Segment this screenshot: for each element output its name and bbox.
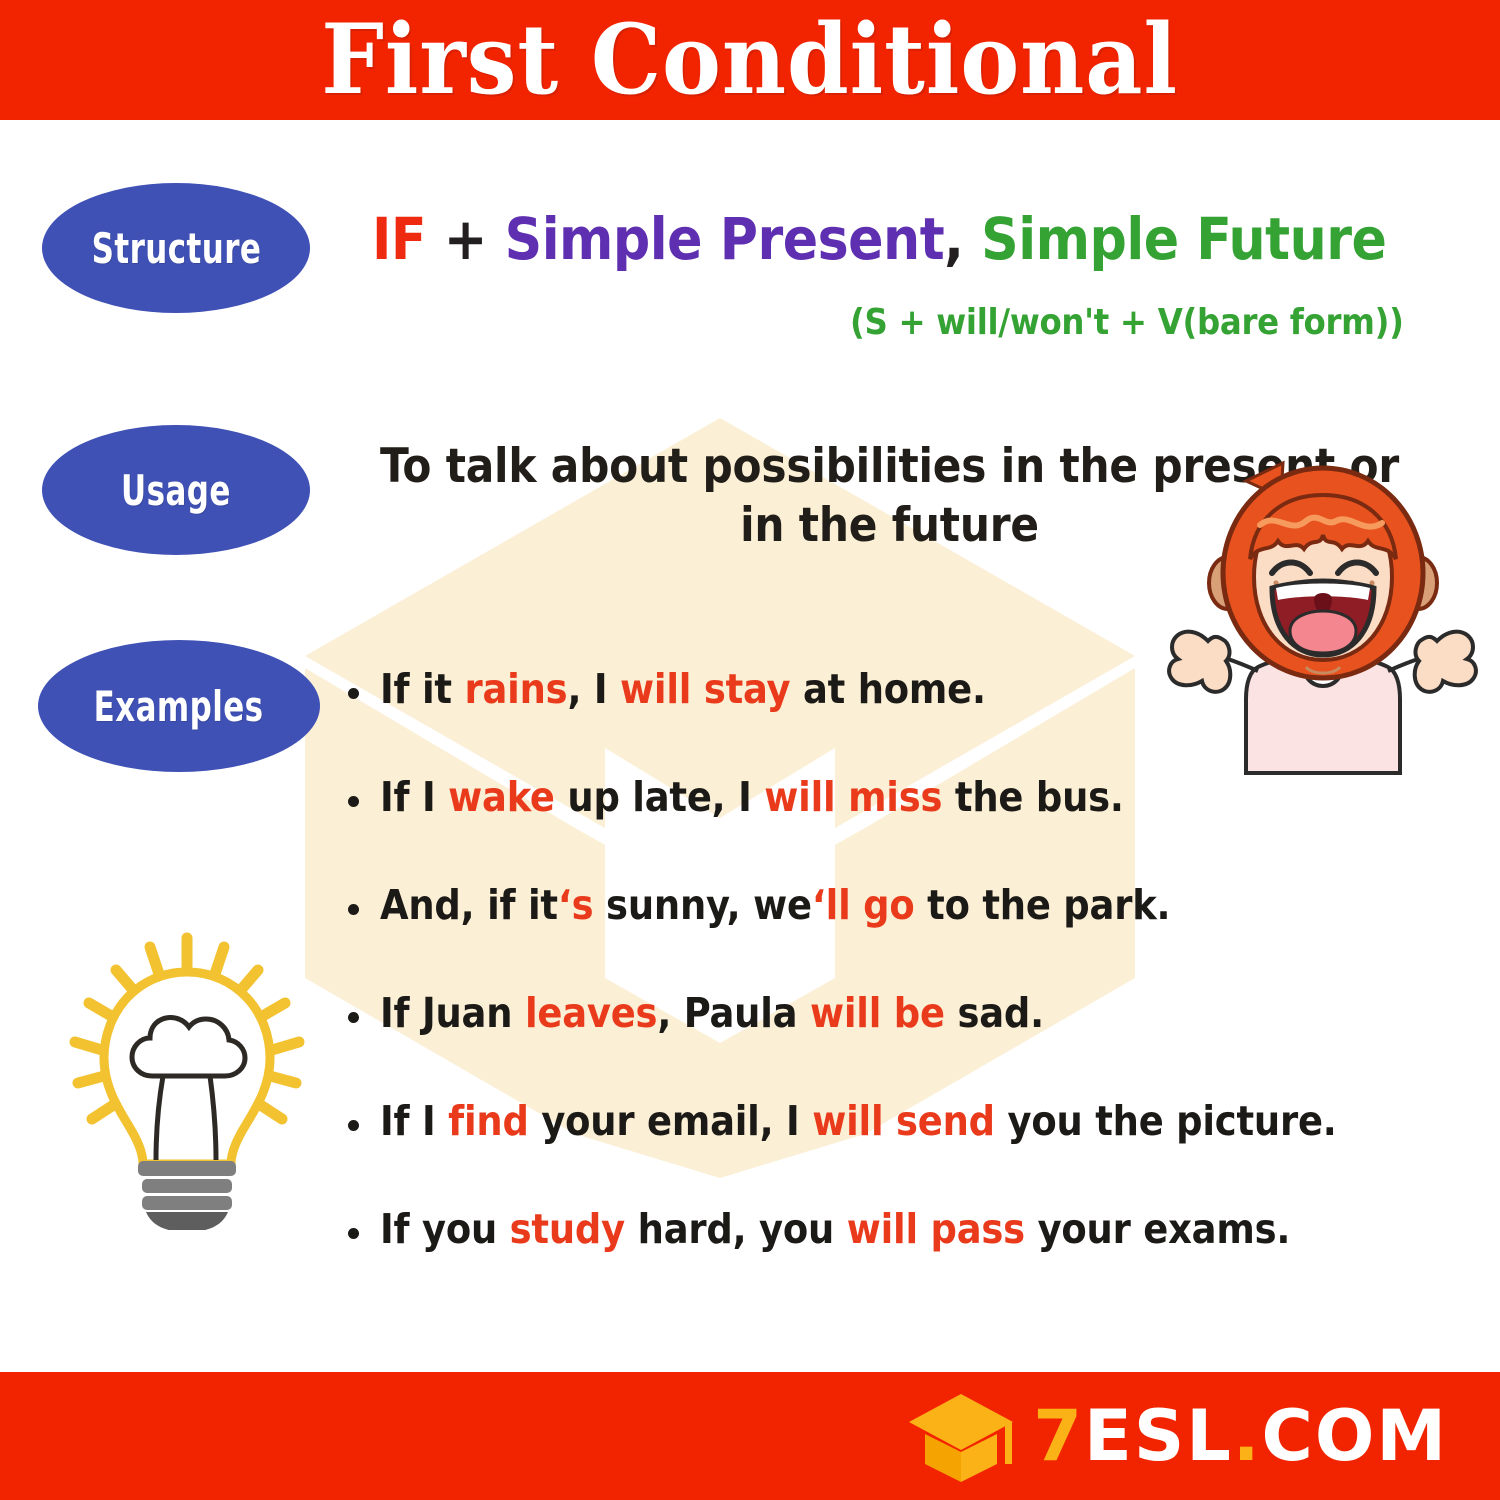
example-highlight: leaves [525, 989, 657, 1037]
formula-if: IF [372, 205, 426, 273]
structure-formula: IF + Simple Present, Simple Future [372, 210, 1386, 268]
laughing-child-illustration [1150, 455, 1495, 785]
example-text: , I [567, 665, 620, 713]
example-text: your email, I [529, 1097, 813, 1145]
formula-comma: , [944, 205, 981, 273]
example-text: up late, I [555, 773, 765, 821]
lightbulb-icon [42, 920, 332, 1230]
example-highlight: wake [448, 773, 555, 821]
logo-com: COM [1261, 1395, 1448, 1477]
example-highlight: find [448, 1097, 529, 1145]
example-text: sad. [945, 989, 1044, 1037]
header-banner: First Conditional [0, 0, 1500, 120]
example-text: you the picture. [995, 1097, 1337, 1145]
example-text: If you [380, 1205, 510, 1253]
example-highlight: will pass [847, 1205, 1025, 1253]
label-usage: Usage [121, 466, 231, 515]
example-highlight: will send [812, 1097, 995, 1145]
example-highlight: will be [810, 989, 945, 1037]
site-logo[interactable]: 7ESL.COM [907, 1390, 1448, 1482]
logo-wordmark: 7ESL.COM [1033, 1401, 1448, 1471]
example-item: If Juan leaves, Paula will be sad. [342, 992, 1472, 1035]
graduation-cap-icon [907, 1390, 1015, 1482]
page-title: First Conditional [322, 12, 1179, 108]
example-text: And, if it [380, 881, 558, 929]
logo-esl: ESL [1084, 1395, 1233, 1477]
label-pill-examples: Examples [38, 640, 320, 772]
example-highlight: rains [464, 665, 567, 713]
formula-simple-future: Simple Future [981, 205, 1386, 273]
formula-simple-present: Simple Present [505, 205, 945, 273]
example-text: the bus. [942, 773, 1123, 821]
structure-subformula: (S + will/won't + V(bare form)) [850, 305, 1404, 341]
example-text: your exams. [1025, 1205, 1290, 1253]
example-text: hard, you [625, 1205, 847, 1253]
logo-dot: . [1233, 1395, 1262, 1477]
example-item: If I find your email, I will send you th… [342, 1100, 1472, 1143]
example-text: If I [380, 1097, 448, 1145]
example-text: to the park. [915, 881, 1171, 929]
footer-banner: 7ESL.COM [0, 1372, 1500, 1500]
example-highlight: ‘s [558, 881, 594, 929]
example-item: And, if it‘s sunny, we‘ll go to the park… [342, 884, 1472, 927]
logo-seven: 7 [1033, 1395, 1084, 1477]
label-examples: Examples [94, 682, 264, 731]
formula-plus: + [426, 205, 505, 273]
example-text: If it [380, 665, 464, 713]
example-text: sunny, we [593, 881, 811, 929]
example-highlight: will stay [620, 665, 790, 713]
example-text: If Juan [380, 989, 525, 1037]
example-text: at home. [790, 665, 985, 713]
example-highlight: study [510, 1205, 625, 1253]
example-highlight: ‘ll go [812, 881, 915, 929]
label-pill-structure: Structure [42, 183, 310, 313]
example-highlight: will miss [764, 773, 942, 821]
example-text: , Paula [657, 989, 810, 1037]
label-pill-usage: Usage [42, 425, 310, 555]
label-structure: Structure [91, 224, 261, 273]
example-item: If you study hard, you will pass your ex… [342, 1208, 1472, 1251]
example-text: If I [380, 773, 448, 821]
